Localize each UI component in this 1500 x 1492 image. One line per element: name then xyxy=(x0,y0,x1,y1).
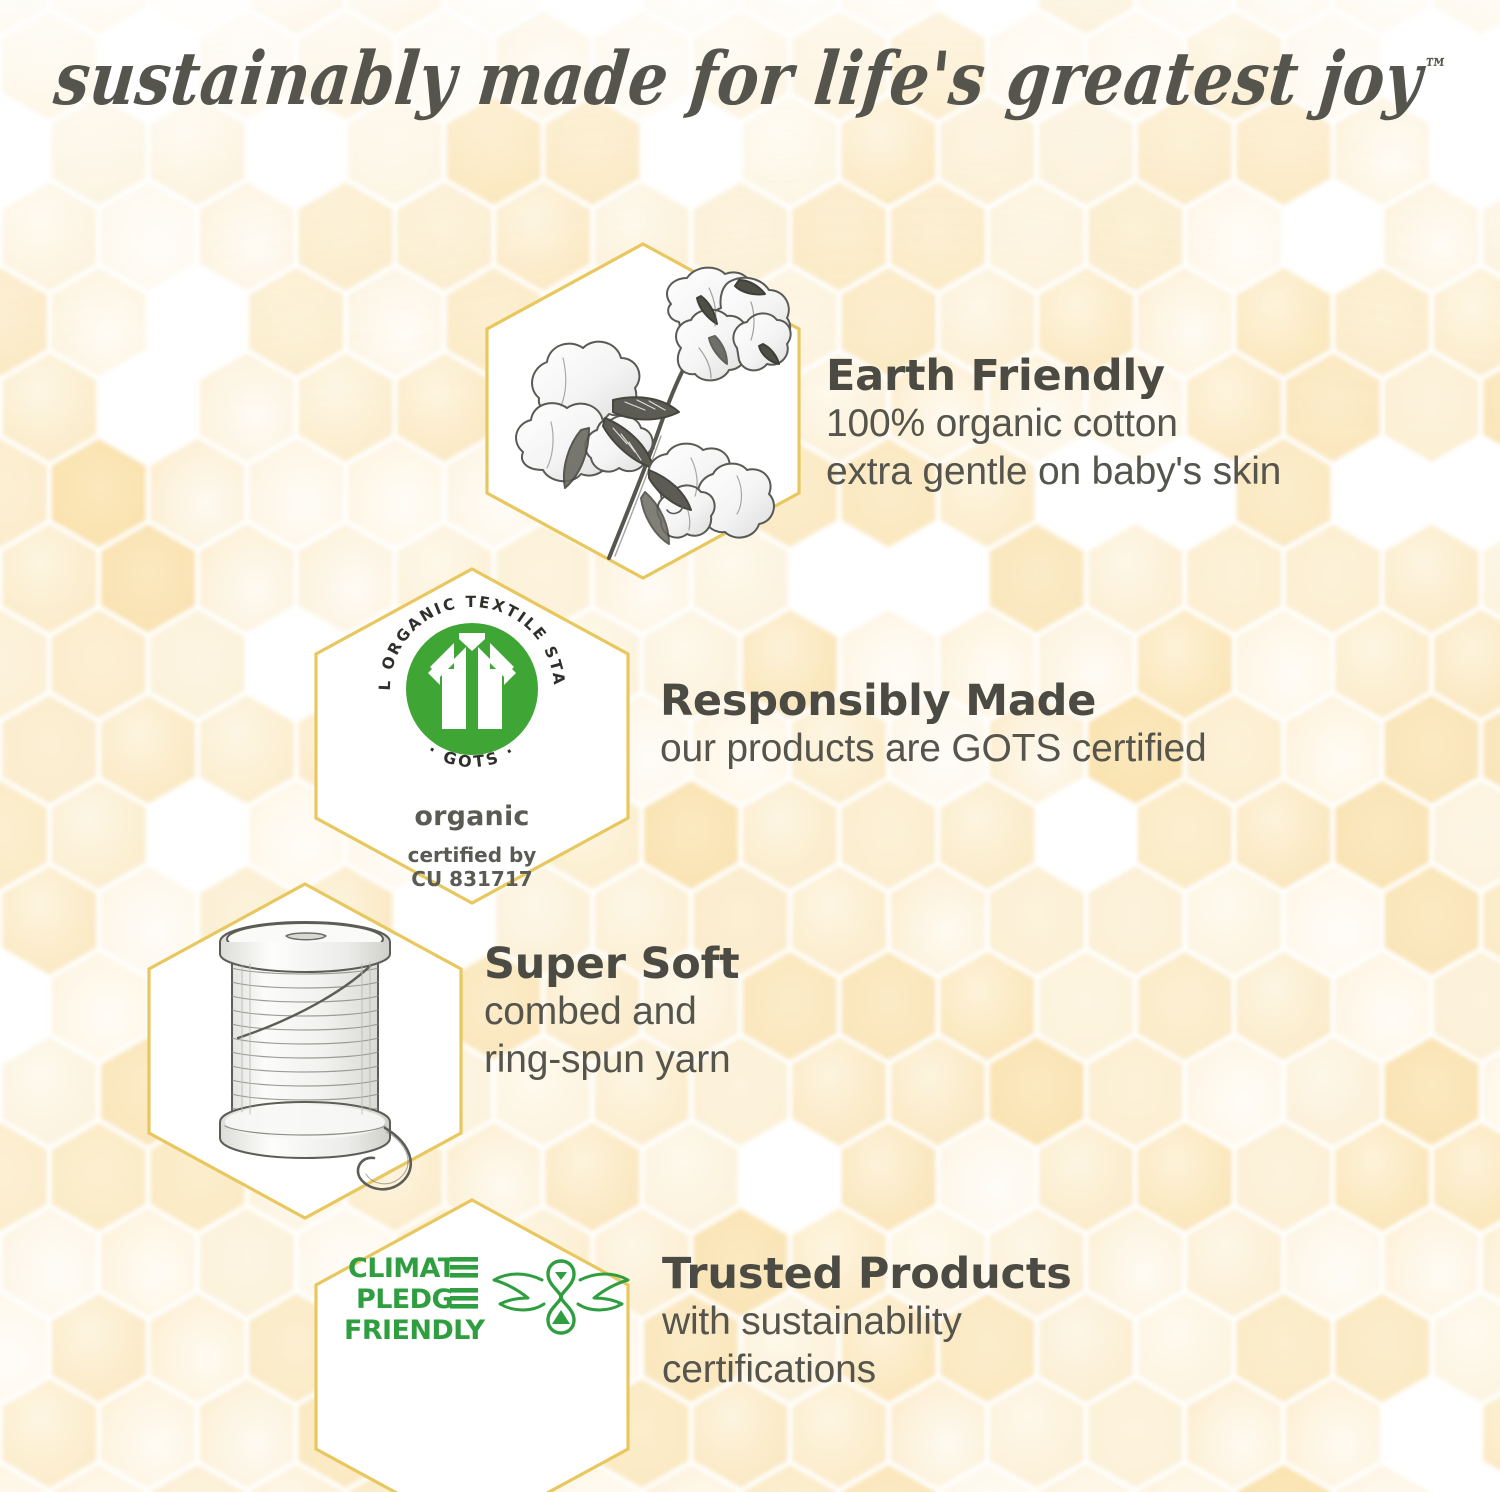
hexagon-frame xyxy=(312,565,632,907)
feature-line: ring-spun yarn xyxy=(484,1036,739,1084)
feature-title: Trusted Products xyxy=(662,1250,1072,1298)
feature-line: extra gentle on baby's skin xyxy=(826,448,1281,496)
feature-line: our products are GOTS certified xyxy=(660,725,1207,773)
hexagon-frame xyxy=(483,240,803,582)
feature-line: 100% organic cotton xyxy=(826,400,1281,448)
hexagon-frame xyxy=(312,1196,632,1492)
trademark-symbol: ™ xyxy=(1421,51,1449,85)
feature-title: Super Soft xyxy=(484,940,739,988)
infographic-canvas: sustainably made for life's greatest joy… xyxy=(0,0,1500,1492)
tagline: sustainably made for life's greatest joy… xyxy=(50,35,1450,121)
feature-text-earth-friendly: Earth Friendly 100% organic cotton extra… xyxy=(826,352,1281,495)
feature-title: Responsibly Made xyxy=(660,677,1207,725)
feature-line: certifications xyxy=(662,1346,1072,1394)
feature-line: combed and xyxy=(484,988,739,1036)
feature-title: Earth Friendly xyxy=(826,352,1281,400)
hex-tile-responsibly-made[interactable]: GLOBAL ORGANIC TEXTILE STANDARD · GOTS ·… xyxy=(312,565,632,907)
tagline-text: sustainably made for life's greatest joy xyxy=(50,35,1426,121)
hexagon-frame xyxy=(145,880,465,1222)
tagline-container: sustainably made for life's greatest joy… xyxy=(0,42,1500,115)
feature-text-responsibly-made: Responsibly Made our products are GOTS c… xyxy=(660,677,1207,773)
hex-tile-super-soft[interactable] xyxy=(145,880,465,1222)
hex-tile-trusted-products[interactable]: CLIMAT PLEDG FRIENDLY xyxy=(312,1196,632,1492)
feature-text-trusted-products: Trusted Products with sustainability cer… xyxy=(662,1250,1072,1393)
feature-text-super-soft: Super Soft combed and ring-spun yarn xyxy=(484,940,739,1083)
feature-line: with sustainability xyxy=(662,1298,1072,1346)
hex-tile-earth-friendly[interactable] xyxy=(483,240,803,582)
